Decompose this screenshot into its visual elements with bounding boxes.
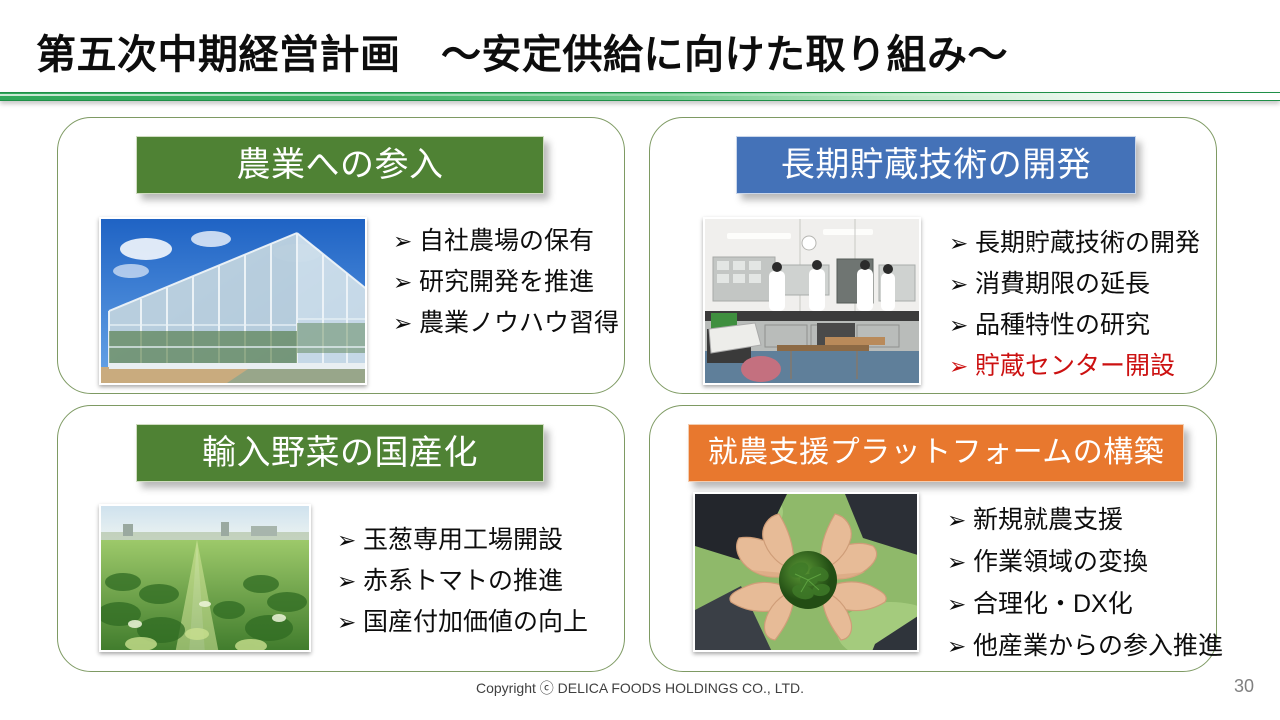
- list-item-label: 消費期限の延長: [975, 272, 1150, 297]
- greenhouse-photo: [99, 217, 367, 385]
- list-item-highlighted: ➢ 貯蔵センター開設: [949, 354, 1200, 379]
- list-item-label: 貯蔵センター開設: [975, 354, 1175, 379]
- title-divider-rule: [0, 92, 1280, 101]
- bullet-list: ➢ 玉葱専用工場開設 ➢ 赤系トマトの推進 ➢ 国産付加価値の向上: [337, 528, 588, 635]
- list-item: ➢ 玉葱専用工場開設: [337, 528, 588, 553]
- list-item-label: 長期貯蔵技術の開発: [975, 231, 1200, 256]
- bullet-list: ➢ 自社農場の保有 ➢ 研究開発を推進 ➢ 農業ノウハウ習得: [393, 229, 619, 336]
- laboratory-photo: [703, 217, 921, 385]
- card-banner-farming-support-platform: 就農支援プラットフォームの構築: [688, 424, 1184, 482]
- list-item: ➢ 他産業からの参入推進: [947, 634, 1223, 659]
- card-banner-domestic-production: 輸入野菜の国産化: [136, 424, 544, 482]
- list-item-label: 国産付加価値の向上: [363, 610, 588, 635]
- list-item: ➢ 合理化・DX化: [947, 592, 1223, 617]
- arrow-bullet-icon: ➢: [947, 594, 973, 617]
- card-domestic-production[interactable]: 輸入野菜の国産化: [57, 405, 625, 672]
- arrow-bullet-icon: ➢: [949, 356, 975, 379]
- arrow-bullet-icon: ➢: [337, 612, 363, 635]
- arrow-bullet-icon: ➢: [393, 313, 419, 336]
- card-agriculture-entry[interactable]: 農業への参入: [57, 117, 625, 394]
- card-banner-long-term-storage: 長期貯蔵技術の開発: [736, 136, 1136, 194]
- hands-holding-plant-photo: [693, 492, 919, 652]
- list-item-label: 玉葱専用工場開設: [363, 528, 563, 553]
- page-title: 第五次中期経営計画 ～安定供給に向けた取り組み～: [36, 22, 1008, 80]
- list-item-label: 作業領域の変換: [973, 550, 1148, 575]
- list-item: ➢ 消費期限の延長: [949, 272, 1200, 297]
- list-item: ➢ 国産付加価値の向上: [337, 610, 588, 635]
- list-item-label: 合理化・DX化: [973, 592, 1133, 617]
- list-item-label: 他産業からの参入推進: [973, 634, 1223, 659]
- bullet-list: ➢ 長期貯蔵技術の開発 ➢ 消費期限の延長 ➢ 品種特性の研究 ➢ 貯蔵センター…: [949, 231, 1200, 379]
- arrow-bullet-icon: ➢: [947, 552, 973, 575]
- list-item-label: 品種特性の研究: [975, 313, 1150, 338]
- card-farming-support-platform[interactable]: 就農支援プラットフォームの構築: [649, 405, 1217, 672]
- list-item: ➢ 新規就農支援: [947, 508, 1223, 533]
- list-item: ➢ 赤系トマトの推進: [337, 569, 588, 594]
- card-banner-agriculture-entry: 農業への参入: [136, 136, 544, 194]
- copyright-footer: Copyright ⓒ DELICA FOODS HOLDINGS CO., L…: [0, 678, 1280, 698]
- list-item-label: 赤系トマトの推進: [363, 569, 563, 594]
- list-item-label: 新規就農支援: [973, 508, 1123, 533]
- arrow-bullet-icon: ➢: [393, 272, 419, 295]
- banner-label: 輸入野菜の国産化: [202, 436, 478, 470]
- card-long-term-storage[interactable]: 長期貯蔵技術の開発: [649, 117, 1217, 394]
- card-body: ➢ 自社農場の保有 ➢ 研究開発を推進 ➢ 農業ノウハウ習得: [99, 217, 619, 385]
- list-item: ➢ 農業ノウハウ習得: [393, 311, 619, 336]
- vegetable-field-photo: [99, 504, 311, 652]
- arrow-bullet-icon: ➢: [337, 530, 363, 553]
- card-body: ➢ 新規就農支援 ➢ 作業領域の変換 ➢ 合理化・DX化 ➢ 他産業からの参入推…: [693, 492, 1223, 676]
- arrow-bullet-icon: ➢: [949, 233, 975, 256]
- arrow-bullet-icon: ➢: [949, 274, 975, 297]
- list-item-label: 自社農場の保有: [419, 229, 594, 254]
- list-item: ➢ 自社農場の保有: [393, 229, 619, 254]
- arrow-bullet-icon: ➢: [947, 510, 973, 533]
- banner-label: 就農支援プラットフォームの構築: [708, 438, 1165, 468]
- card-body: ➢ 玉葱専用工場開設 ➢ 赤系トマトの推進 ➢ 国産付加価値の向上: [99, 504, 588, 652]
- list-item: ➢ 品種特性の研究: [949, 313, 1200, 338]
- page-number: 30: [1234, 676, 1254, 697]
- list-item-label: 農業ノウハウ習得: [419, 311, 619, 336]
- card-grid: 農業への参入: [0, 108, 1280, 668]
- list-item: ➢ 作業領域の変換: [947, 550, 1223, 575]
- arrow-bullet-icon: ➢: [337, 571, 363, 594]
- slide-canvas: 第五次中期経営計画 ～安定供給に向けた取り組み～ 農業への参入: [0, 0, 1280, 720]
- list-item-label: 研究開発を推進: [419, 270, 594, 295]
- card-body: ➢ 長期貯蔵技術の開発 ➢ 消費期限の延長 ➢ 品種特性の研究 ➢ 貯蔵センター…: [703, 217, 1200, 385]
- banner-label: 長期貯蔵技術の開発: [781, 148, 1092, 182]
- banner-label: 農業への参入: [237, 148, 444, 182]
- bullet-list: ➢ 新規就農支援 ➢ 作業領域の変換 ➢ 合理化・DX化 ➢ 他産業からの参入推…: [947, 508, 1223, 676]
- list-item: ➢ 研究開発を推進: [393, 270, 619, 295]
- list-item: ➢ 長期貯蔵技術の開発: [949, 231, 1200, 256]
- arrow-bullet-icon: ➢: [393, 231, 419, 254]
- arrow-bullet-icon: ➢: [949, 315, 975, 338]
- arrow-bullet-icon: ➢: [947, 636, 973, 659]
